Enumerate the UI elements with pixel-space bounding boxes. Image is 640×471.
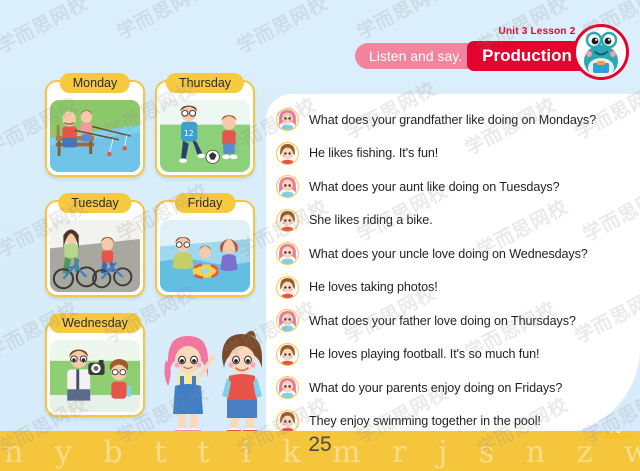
boy-avatar-icon bbox=[276, 142, 299, 165]
card-illustration-fishing bbox=[50, 100, 140, 172]
day-label: Tuesday bbox=[58, 193, 131, 213]
dialogue-text: He likes fishing. It's fun! bbox=[309, 146, 438, 160]
worksheet-page: Unit 3 Lesson 2 Listen and say. Producti… bbox=[0, 0, 640, 471]
dialogue-text: They enjoy swimming together in the pool… bbox=[309, 414, 541, 428]
dialogue-list: What does your grandfather like doing on… bbox=[276, 104, 636, 439]
day-label: Thursday bbox=[166, 73, 244, 93]
dialogue-text: He loves taking photos! bbox=[309, 280, 438, 294]
card-illustration-bikes bbox=[50, 220, 140, 292]
svg-text:12: 12 bbox=[184, 129, 194, 138]
bottom-bar: n y b t t i k m r j s n z w o f 25 79 bbox=[0, 431, 640, 471]
monster-mascot-icon bbox=[573, 24, 629, 80]
boy-avatar-icon bbox=[276, 209, 299, 232]
dialogue-line: What does your aunt like doing on Tuesda… bbox=[276, 171, 636, 202]
day-card-tuesday[interactable]: Tuesday bbox=[45, 200, 145, 297]
dialogue-line: He loves taking photos! bbox=[276, 272, 636, 303]
card-illustration-swimming bbox=[160, 220, 250, 292]
dialogue-text: What does your father love doing on Thur… bbox=[309, 314, 576, 328]
girl-character bbox=[164, 336, 215, 436]
page-badge: 79 bbox=[599, 431, 632, 439]
day-card-thursday[interactable]: Thursday 12 bbox=[155, 80, 255, 177]
day-card-wednesday[interactable]: Wednesday bbox=[45, 320, 145, 417]
dialogue-line: She likes riding a bike. bbox=[276, 205, 636, 236]
watermark: 学而思网校 bbox=[232, 0, 333, 59]
day-card-monday[interactable]: Monday bbox=[45, 80, 145, 177]
dialogue-text: What does your aunt like doing on Tuesda… bbox=[309, 180, 560, 194]
dialogue-line: What does your uncle love doing on Wedne… bbox=[276, 238, 636, 269]
boy-avatar-icon bbox=[276, 343, 299, 366]
boy-avatar-icon bbox=[276, 276, 299, 299]
girl-avatar-icon bbox=[276, 108, 299, 131]
dialogue-text: What do your parents enjoy doing on Frid… bbox=[309, 381, 562, 395]
dialogue-text: She likes riding a bike. bbox=[309, 213, 433, 227]
day-label: Wednesday bbox=[49, 313, 141, 333]
header: Unit 3 Lesson 2 Listen and say. Producti… bbox=[355, 24, 635, 82]
dialogue-line: He loves playing football. It's so much … bbox=[276, 339, 636, 370]
watermark: 学而思网校 bbox=[112, 0, 213, 45]
dialogue-line: What does your father love doing on Thur… bbox=[276, 305, 636, 336]
dialogue-text: He loves playing football. It's so much … bbox=[309, 347, 539, 361]
card-illustration-photography bbox=[50, 340, 140, 412]
dialogue-line: He likes fishing. It's fun! bbox=[276, 138, 636, 169]
boy-character bbox=[222, 331, 262, 436]
boy-avatar-icon bbox=[276, 410, 299, 433]
girl-avatar-icon bbox=[276, 376, 299, 399]
watermark: 学而思网校 bbox=[0, 0, 92, 59]
day-card-friday[interactable]: Friday bbox=[155, 200, 255, 297]
dialogue-text: What does your uncle love doing on Wedne… bbox=[309, 247, 588, 261]
girl-avatar-icon bbox=[276, 309, 299, 332]
girl-avatar-icon bbox=[276, 175, 299, 198]
dialogue-text: What does your grandfather like doing on… bbox=[309, 113, 596, 127]
day-label: Monday bbox=[60, 73, 130, 93]
unit-lesson-label: Unit 3 Lesson 2 bbox=[483, 26, 591, 37]
girl-avatar-icon bbox=[276, 242, 299, 265]
page-number: 25 bbox=[0, 433, 640, 457]
day-label: Friday bbox=[175, 193, 236, 213]
production-badge: Production bbox=[467, 41, 587, 71]
dialogue-line: What do your parents enjoy doing on Frid… bbox=[276, 372, 636, 403]
dialogue-line: What does your grandfather like doing on… bbox=[276, 104, 636, 135]
card-illustration-football: 12 bbox=[160, 100, 250, 172]
bottom-characters bbox=[160, 330, 278, 440]
